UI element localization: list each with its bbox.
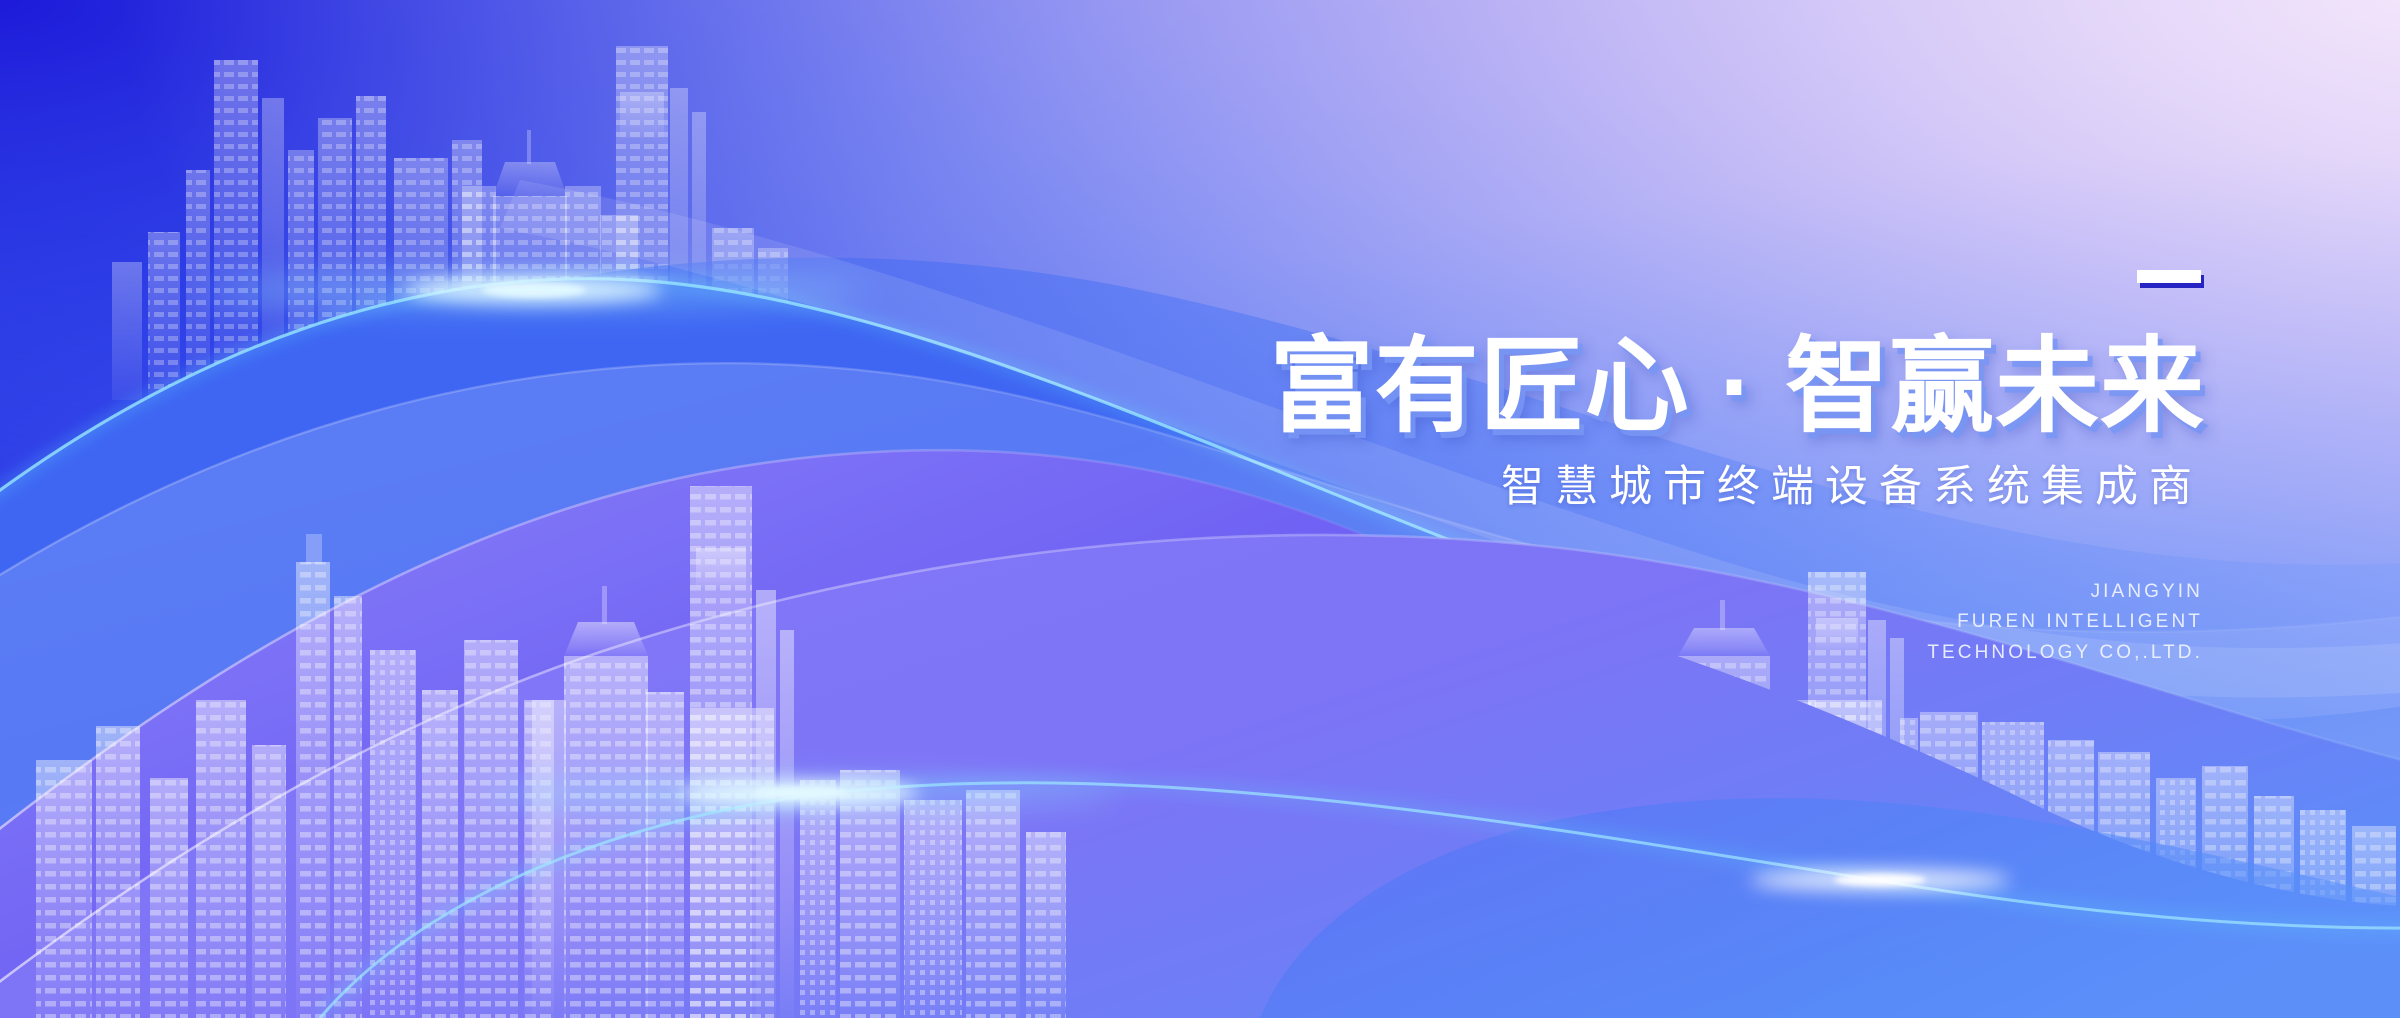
page-title: 富有匠心 · 智赢未来 (1025, 334, 2205, 440)
company-name-block: JIANGYIN FUREN INTELLIGENT TECHNOLOGY CO… (1025, 577, 2205, 669)
banner-canvas: 富有匠心 · 智赢未来 智慧城市终端设备系统集成商 JIANGYIN FUREN… (0, 0, 2400, 1018)
company-line-2: FUREN INTELLIGENT (1025, 607, 2205, 638)
accent-dash-icon (2137, 270, 2201, 283)
page-subtitle: 智慧城市终端设备系统集成商 (1025, 462, 2205, 514)
company-line-1: JIANGYIN (1025, 577, 2205, 608)
headline-block: 富有匠心 · 智赢未来 智慧城市终端设备系统集成商 JIANGYIN FUREN… (1025, 270, 2205, 669)
company-line-3: TECHNOLOGY CO,.LTD. (1025, 638, 2205, 669)
